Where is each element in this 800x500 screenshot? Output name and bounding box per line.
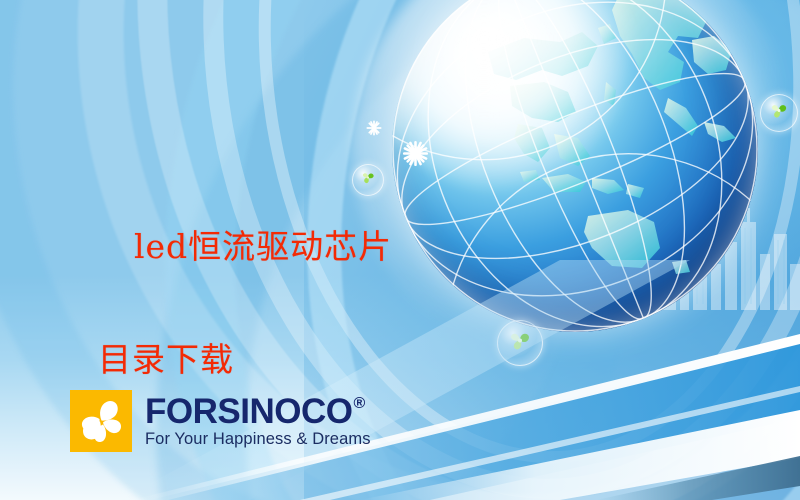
brand-name-text: FORSINOCO — [145, 394, 352, 430]
headline-line-1: led恒流驱动芯片 — [134, 227, 392, 266]
headline-line-2: 目录下载 — [88, 332, 392, 389]
promo-banner: led恒流驱动芯片 目录下载 FORSINOCO ® For Your Happ… — [0, 0, 800, 500]
company-logo: FORSINOCO ® For Your Happiness & Dreams — [70, 390, 371, 452]
logo-wordmark: FORSINOCO ® For Your Happiness & Dreams — [145, 394, 371, 449]
bubble-leaf-right — [760, 94, 798, 132]
brand-tagline: For Your Happiness & Dreams — [145, 430, 371, 448]
registered-trademark-icon: ® — [353, 396, 364, 412]
snowflake-large-icon — [402, 140, 429, 167]
green-leaf-icon — [770, 101, 789, 125]
forsinoco-flower-mark-icon — [70, 390, 132, 452]
brand-name: FORSINOCO ® — [145, 394, 371, 430]
snowflake-small-icon — [366, 120, 382, 136]
